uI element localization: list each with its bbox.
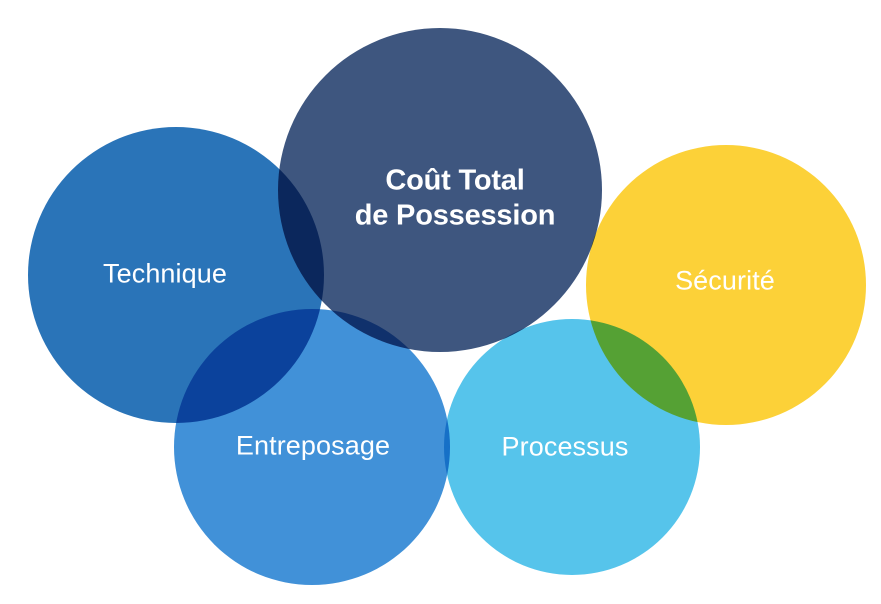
- circle-processus[interactable]: [444, 319, 700, 575]
- circle-entreposage[interactable]: [174, 309, 450, 585]
- circle-cout-total-de-possession[interactable]: [278, 28, 602, 352]
- venn-canvas: [0, 0, 881, 604]
- venn-diagram: Coût Totalde Possession Technique Sécuri…: [0, 0, 881, 604]
